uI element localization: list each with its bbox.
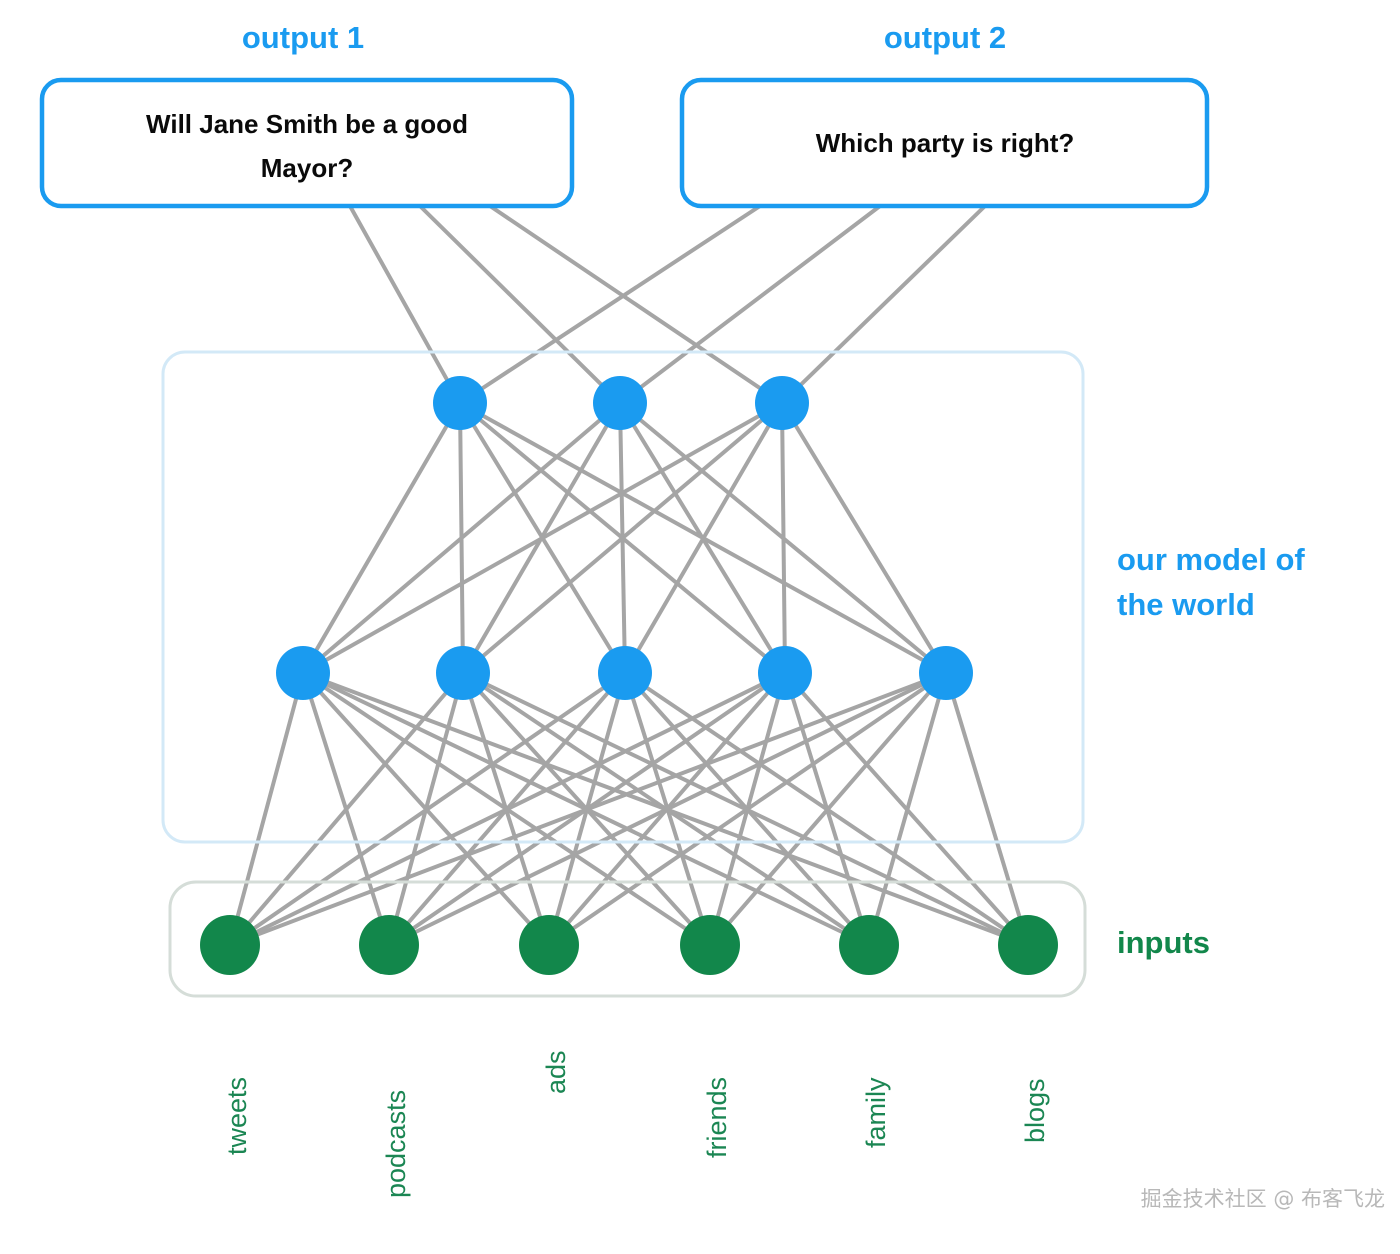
input-label-family: family: [861, 1077, 891, 1148]
edge: [625, 673, 1028, 945]
hidden-node-mid-1[interactable]: [276, 646, 330, 700]
inputs-label: inputs: [1117, 925, 1210, 960]
watermark: 掘金技术社区 @ 布客飞龙: [1141, 1187, 1385, 1211]
hidden-node-top-2[interactable]: [593, 376, 647, 430]
edge: [303, 673, 1028, 945]
edge: [460, 403, 946, 673]
hidden-node-mid-5[interactable]: [919, 646, 973, 700]
edges-top-to-outputs: [350, 206, 985, 403]
edge: [303, 673, 710, 945]
input-node-ads[interactable]: [519, 915, 579, 975]
edge: [946, 673, 1028, 945]
input-node-tweets[interactable]: [200, 915, 260, 975]
output-1-question-line-2: Mayor?: [261, 153, 353, 183]
input-node-blogs[interactable]: [998, 915, 1058, 975]
input-label-friends: friends: [702, 1077, 732, 1158]
output-1-box[interactable]: [42, 80, 572, 206]
edge: [490, 206, 782, 403]
edge: [420, 206, 620, 403]
hidden-node-mid-4[interactable]: [758, 646, 812, 700]
output-1-group: output 1 Will Jane Smith be a good Mayor…: [42, 20, 572, 206]
edge: [620, 206, 880, 403]
hidden-node-mid-3[interactable]: [598, 646, 652, 700]
input-label-ads: ads: [541, 1050, 571, 1094]
edge: [782, 206, 985, 403]
edges-input-to-middle: [230, 673, 1028, 945]
edge: [782, 403, 946, 673]
output-2-title: output 2: [884, 20, 1006, 55]
input-node-podcasts[interactable]: [359, 915, 419, 975]
input-layer: [200, 915, 1058, 975]
edge: [350, 206, 460, 403]
input-node-friends[interactable]: [680, 915, 740, 975]
edge: [460, 403, 463, 673]
output-1-title: output 1: [242, 20, 364, 55]
input-node-family[interactable]: [839, 915, 899, 975]
model-label-line-2: the world: [1117, 587, 1255, 622]
model-label-group: our model of the world: [1117, 542, 1305, 622]
input-label-blogs: blogs: [1020, 1078, 1050, 1143]
edge: [785, 673, 1028, 945]
output-2-question-line-1: Which party is right?: [816, 128, 1075, 158]
input-node-labels: tweets podcasts ads friends family blogs: [222, 1050, 1050, 1198]
inputs-container-box: [170, 882, 1085, 996]
output-2-group: output 2 Which party is right?: [682, 20, 1207, 206]
edge: [303, 403, 460, 673]
output-1-question-line-1: Will Jane Smith be a good: [146, 109, 468, 139]
hidden-node-top-1[interactable]: [433, 376, 487, 430]
input-label-tweets: tweets: [222, 1077, 252, 1155]
neural-network-diagram: output 1 Will Jane Smith be a good Mayor…: [0, 0, 1400, 1254]
hidden-layer-middle: [276, 646, 973, 700]
input-label-podcasts: podcasts: [381, 1090, 411, 1198]
model-label-line-1: our model of: [1117, 542, 1305, 577]
edge: [460, 206, 760, 403]
hidden-node-top-3[interactable]: [755, 376, 809, 430]
hidden-node-mid-2[interactable]: [436, 646, 490, 700]
edges-middle-to-top: [303, 403, 946, 673]
